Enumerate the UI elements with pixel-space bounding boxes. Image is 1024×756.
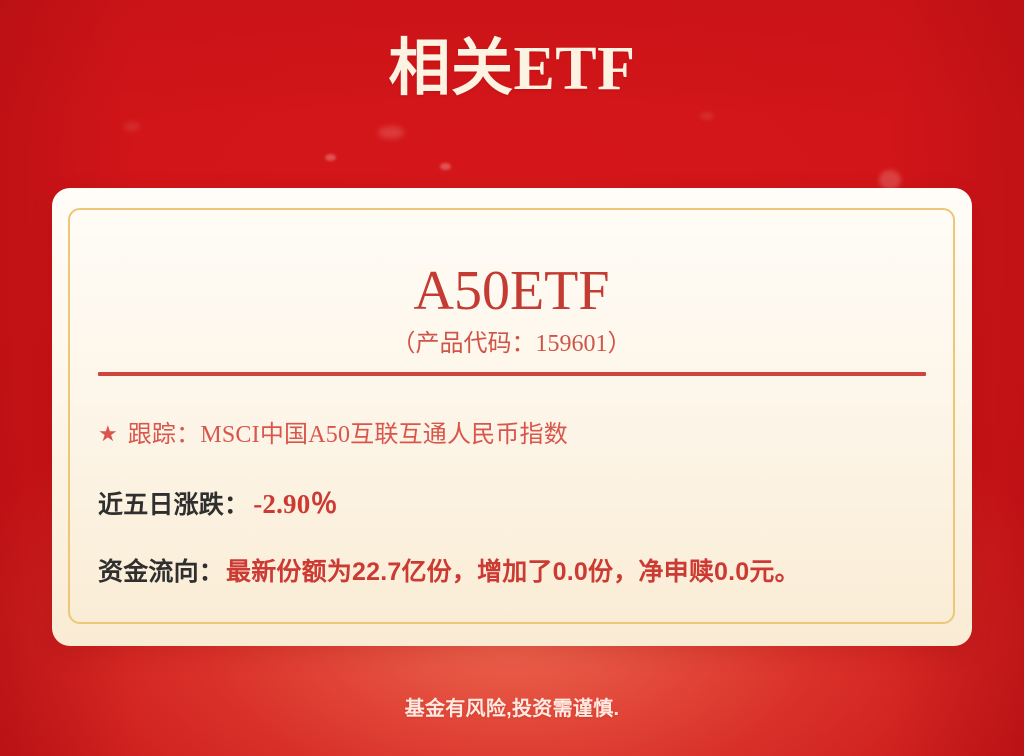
fund-name: A50ETF: [70, 262, 953, 321]
tracking-index-text: 跟踪：MSCI中国A50互联互通人民币指数: [128, 414, 568, 449]
page-title: 相关ETF: [0, 38, 1024, 100]
bokeh-dot-icon: [378, 126, 404, 139]
bokeh-dot-icon: [325, 154, 336, 161]
star-icon: ★: [98, 423, 118, 445]
five-day-change-label: 近五日涨跌：: [98, 485, 249, 521]
etf-poster: 相关ETF A50ETF （产品代码：159601） ★ 跟踪：MSCI中国A5…: [0, 0, 1024, 756]
bokeh-dot-icon: [124, 122, 140, 131]
fund-flow-value: 最新份额为22.7亿份，增加了0.0份，净申赎0.0元。: [226, 552, 800, 588]
bokeh-dot-icon: [700, 112, 714, 120]
fund-flow-label: 资金流向：: [98, 552, 224, 588]
card-divider: [98, 372, 926, 376]
etf-card: A50ETF （产品代码：159601） ★ 跟踪：MSCI中国A50互联互通人…: [52, 188, 972, 646]
bokeh-dot-icon: [879, 170, 901, 190]
five-day-change-value: -2.90％: [253, 482, 337, 521]
bokeh-dot-icon: [440, 163, 451, 170]
fund-flow-row: 资金流向： 最新份额为22.7亿份，增加了0.0份，净申赎0.0元。: [98, 552, 929, 588]
fund-code: （产品代码：159601）: [70, 330, 953, 359]
five-day-change-row: 近五日涨跌： -2.90％: [98, 482, 929, 521]
tracking-index-row: ★ 跟踪：MSCI中国A50互联互通人民币指数: [98, 414, 929, 449]
risk-disclaimer: 基金有风险,投资需谨慎.: [0, 692, 1024, 721]
card-inner-border: A50ETF （产品代码：159601） ★ 跟踪：MSCI中国A50互联互通人…: [68, 208, 955, 624]
